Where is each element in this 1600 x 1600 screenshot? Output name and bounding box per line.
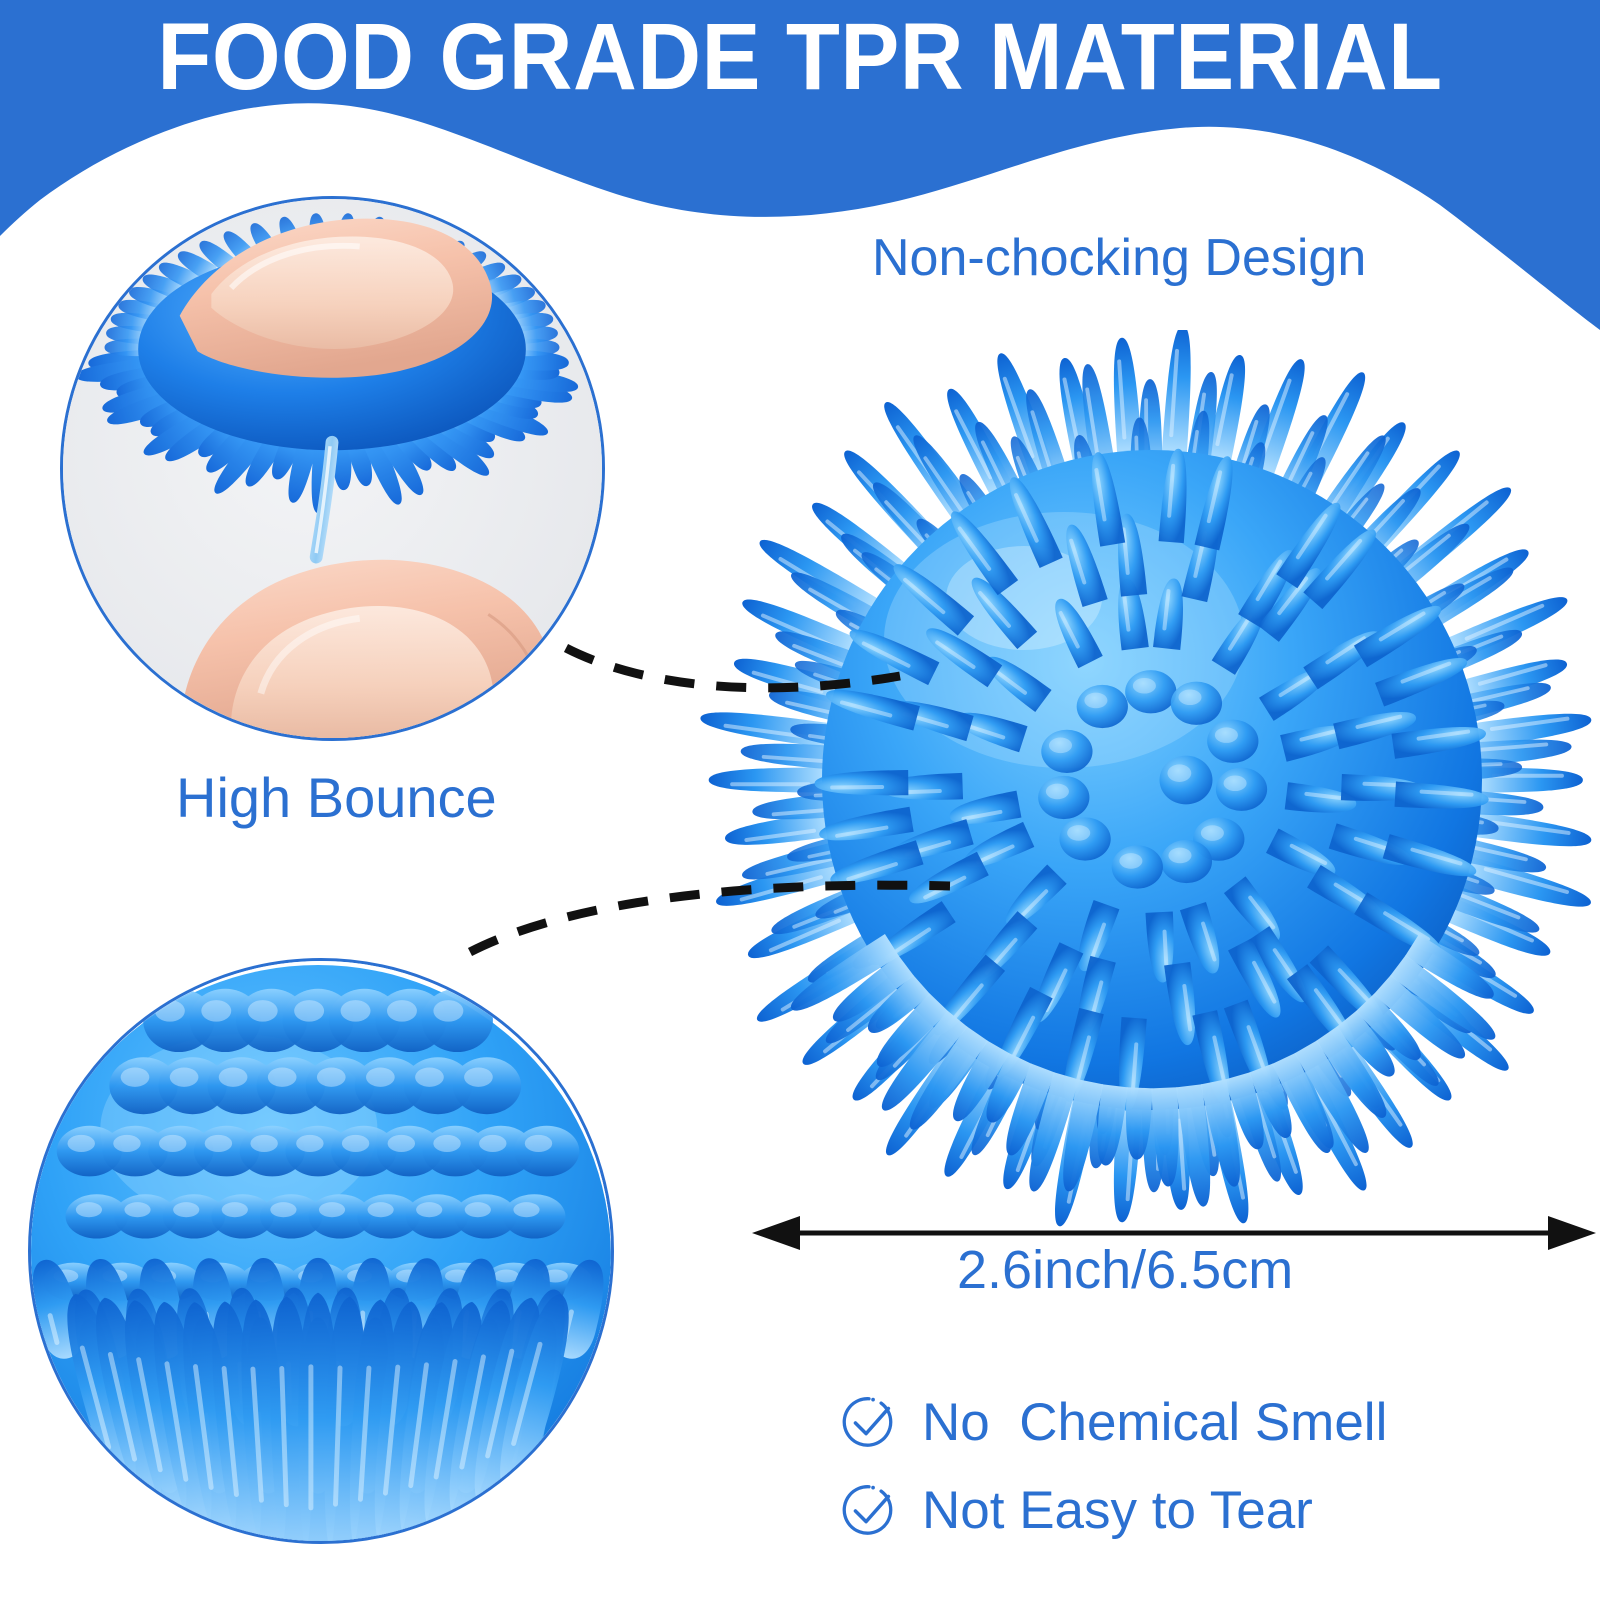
spike-closeup-illustration (31, 961, 611, 1541)
inset-high-bounce (60, 196, 605, 741)
feature-item-no-chemical-smell: No Chemical Smell (838, 1378, 1458, 1466)
inset-spike-closeup (28, 958, 614, 1544)
feature-item-not-easy-to-tear: Not Easy to Tear (838, 1466, 1458, 1554)
closeup-spikes (31, 1255, 611, 1541)
label-dimension: 2.6inch/6.5cm (957, 1243, 1293, 1297)
high-bounce-illustration (63, 199, 602, 738)
feature-label: No Chemical Smell (922, 1396, 1387, 1449)
check-circle-icon (838, 1391, 900, 1453)
infographic-canvas: FOOD GRADE TPR MATERIAL (0, 0, 1600, 1600)
page-title: FOOD GRADE TPR MATERIAL (56, 2, 1544, 112)
feature-list: No Chemical Smell Not Easy to Tear (838, 1378, 1458, 1554)
label-non-chocking: Non-chocking Design (872, 232, 1366, 284)
feature-label: Not Easy to Tear (922, 1484, 1313, 1537)
label-high-bounce: High Bounce (176, 770, 497, 826)
spiky-ball-illustration (672, 330, 1600, 1230)
check-circle-icon (838, 1479, 900, 1541)
product-main-image (672, 330, 1600, 1230)
